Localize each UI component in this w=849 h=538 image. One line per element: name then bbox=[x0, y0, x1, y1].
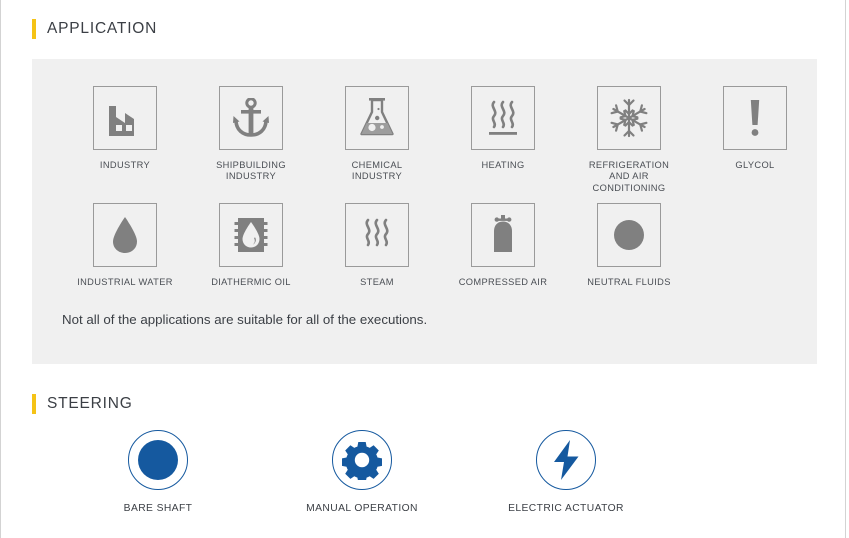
steering-row: BARE SHAFT MANUAL OPERATION ELECTRIC ACT… bbox=[56, 430, 668, 514]
solid-circle-icon bbox=[136, 438, 180, 482]
application-item-label: SHIPBUILDING INDUSTRY bbox=[216, 160, 286, 183]
icon-ring bbox=[128, 430, 188, 490]
anchor-icon bbox=[232, 98, 270, 138]
application-item-diathermic-oil[interactable]: DIATHERMIC OIL bbox=[188, 203, 314, 288]
application-row-1: INDUSTRY SHIPBUILDING INDUSTRY bbox=[62, 86, 818, 194]
steering-item-bare-shaft[interactable]: BARE SHAFT bbox=[56, 430, 260, 514]
flask-icon bbox=[358, 97, 396, 139]
application-item-glycol[interactable]: GLYCOL bbox=[692, 86, 818, 194]
application-item-steam[interactable]: STEAM bbox=[314, 203, 440, 288]
application-item-label: HEATING bbox=[481, 160, 524, 171]
page-left-rule bbox=[0, 0, 1, 538]
application-item-label: STEAM bbox=[360, 277, 394, 288]
snowflake-icon bbox=[609, 98, 649, 138]
page-right-rule bbox=[845, 0, 846, 538]
application-heading-text: APPLICATION bbox=[47, 20, 157, 38]
icon-frame bbox=[93, 203, 157, 267]
application-item-label: INDUSTRY bbox=[100, 160, 150, 171]
heat-waves-icon bbox=[484, 98, 522, 138]
application-item-label: NEUTRAL FLUIDS bbox=[587, 277, 671, 288]
application-section-heading: APPLICATION bbox=[32, 19, 157, 39]
application-item-refrigeration-and-air-conditioning[interactable]: REFRIGERATION AND AIR CONDITIONING bbox=[566, 86, 692, 194]
icon-frame bbox=[723, 86, 787, 150]
steering-item-label: BARE SHAFT bbox=[124, 503, 193, 514]
application-item-heating[interactable]: HEATING bbox=[440, 86, 566, 194]
application-item-label: CHEMICAL INDUSTRY bbox=[352, 160, 403, 183]
icon-ring bbox=[536, 430, 596, 490]
icon-frame bbox=[597, 86, 661, 150]
application-panel: INDUSTRY SHIPBUILDING INDUSTRY bbox=[32, 59, 817, 364]
water-drop-icon bbox=[110, 215, 140, 255]
application-item-industrial-water[interactable]: INDUSTRIAL WATER bbox=[62, 203, 188, 288]
icon-frame bbox=[597, 203, 661, 267]
application-item-neutral-fluids[interactable]: NEUTRAL FLUIDS bbox=[566, 203, 692, 288]
application-item-label: DIATHERMIC OIL bbox=[211, 277, 291, 288]
gas-cylinder-icon bbox=[490, 214, 516, 256]
steering-item-label: MANUAL OPERATION bbox=[306, 503, 418, 514]
application-note: Not all of the applications are suitable… bbox=[62, 312, 427, 327]
exclamation-icon bbox=[745, 98, 765, 138]
steering-section-heading: STEERING bbox=[32, 394, 133, 414]
accent-bar-icon bbox=[32, 19, 36, 39]
accent-bar-icon bbox=[32, 394, 36, 414]
application-item-chemical-industry[interactable]: CHEMICAL INDUSTRY bbox=[314, 86, 440, 194]
icon-frame bbox=[93, 86, 157, 150]
filled-circle-icon bbox=[612, 218, 646, 252]
application-item-label: REFRIGERATION AND AIR CONDITIONING bbox=[589, 160, 669, 194]
application-item-label: COMPRESSED AIR bbox=[459, 277, 548, 288]
steering-heading-text: STEERING bbox=[47, 395, 133, 413]
application-row-2: INDUSTRIAL WATER bbox=[62, 203, 692, 288]
icon-frame bbox=[471, 203, 535, 267]
lightning-bolt-icon bbox=[549, 439, 583, 481]
factory-icon bbox=[106, 100, 144, 136]
application-item-shipbuilding-industry[interactable]: SHIPBUILDING INDUSTRY bbox=[188, 86, 314, 194]
icon-frame bbox=[345, 86, 409, 150]
application-item-industry[interactable]: INDUSTRY bbox=[62, 86, 188, 194]
application-item-compressed-air[interactable]: COMPRESSED AIR bbox=[440, 203, 566, 288]
steering-item-label: ELECTRIC ACTUATOR bbox=[508, 503, 624, 514]
page-root: APPLICATION INDUSTRY bbox=[0, 0, 849, 538]
icon-frame bbox=[345, 203, 409, 267]
steering-item-electric-actuator[interactable]: ELECTRIC ACTUATOR bbox=[464, 430, 668, 514]
oil-barrel-icon bbox=[232, 216, 270, 254]
application-item-label: GLYCOL bbox=[735, 160, 774, 171]
icon-frame bbox=[219, 86, 283, 150]
icon-ring bbox=[332, 430, 392, 490]
icon-frame bbox=[219, 203, 283, 267]
icon-frame bbox=[471, 86, 535, 150]
steam-waves-icon bbox=[358, 217, 396, 253]
application-item-label: INDUSTRIAL WATER bbox=[77, 277, 173, 288]
gear-icon bbox=[342, 440, 382, 480]
steering-item-manual-operation[interactable]: MANUAL OPERATION bbox=[260, 430, 464, 514]
